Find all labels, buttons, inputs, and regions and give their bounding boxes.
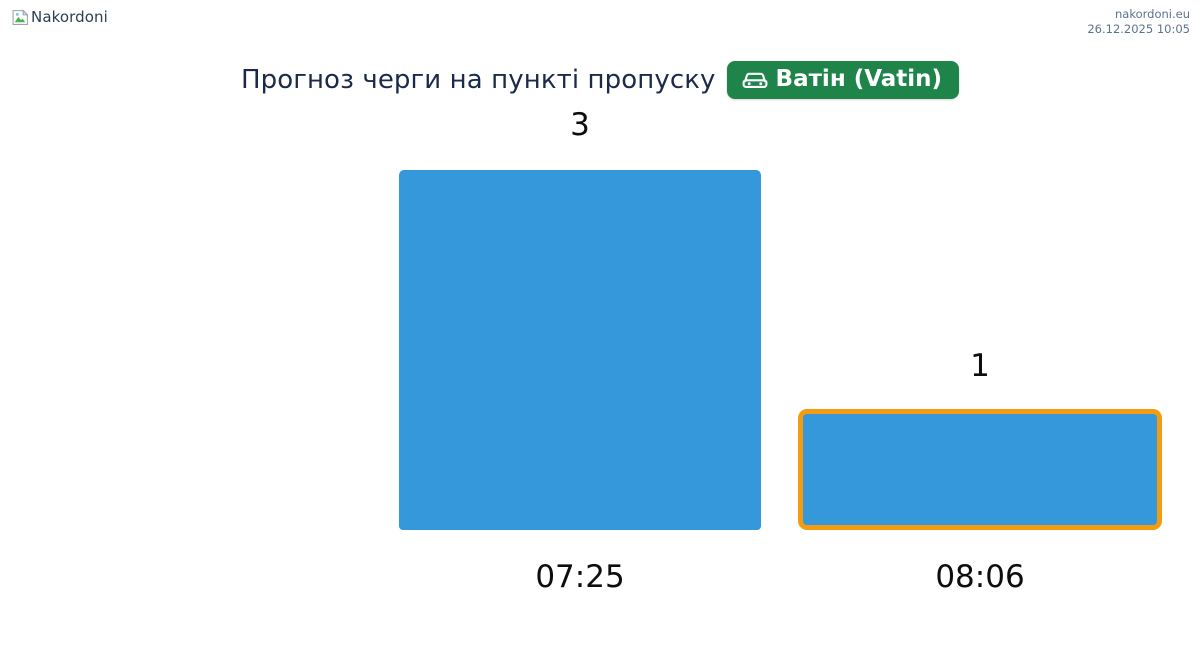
queue-forecast-chart: 3 07:25 1 08:06	[0, 0, 1200, 651]
bar-value-label: 3	[399, 110, 761, 141]
bar-category-label: 07:25	[399, 562, 761, 593]
bar-rect[interactable]	[399, 170, 761, 530]
bar-group: 3 07:25	[399, 0, 761, 651]
bar-category-label: 08:06	[798, 562, 1162, 593]
bar-group: 1 08:06	[798, 0, 1162, 651]
bar-value-label: 1	[798, 351, 1162, 382]
bar-rect-highlighted[interactable]	[798, 409, 1162, 530]
